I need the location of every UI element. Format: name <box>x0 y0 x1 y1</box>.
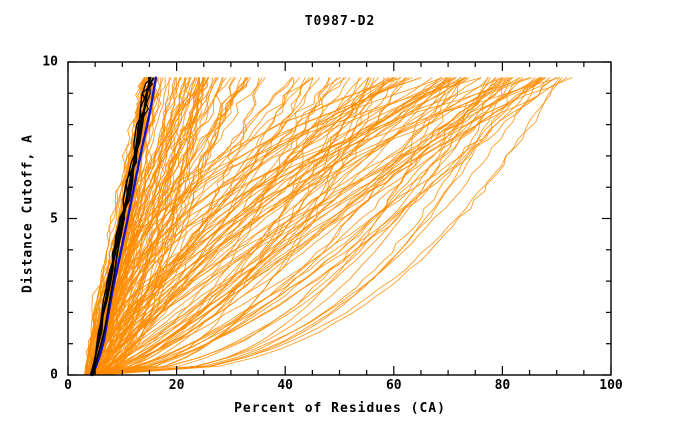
x-tick-label-40: 40 <box>277 378 293 393</box>
figure-container: T0987-D2 Percent of Residues (CA) Distan… <box>0 0 680 440</box>
y-tick-label-5: 5 <box>38 211 58 226</box>
x-axis-label: Percent of Residues (CA) <box>0 401 680 416</box>
plot-canvas <box>0 0 680 440</box>
y-tick-label-0: 0 <box>38 368 58 383</box>
x-tick-label-80: 80 <box>495 378 511 393</box>
bulk-curves-group <box>84 78 572 375</box>
x-tick-label-60: 60 <box>386 378 402 393</box>
y-tick-label-10: 10 <box>30 55 58 70</box>
x-tick-label-0: 0 <box>64 378 72 393</box>
x-tick-label-20: 20 <box>169 378 185 393</box>
x-tick-label-100: 100 <box>599 378 622 393</box>
page-title: T0987-D2 <box>0 14 680 29</box>
y-axis-label: Distance Cutoff, A <box>21 99 36 329</box>
